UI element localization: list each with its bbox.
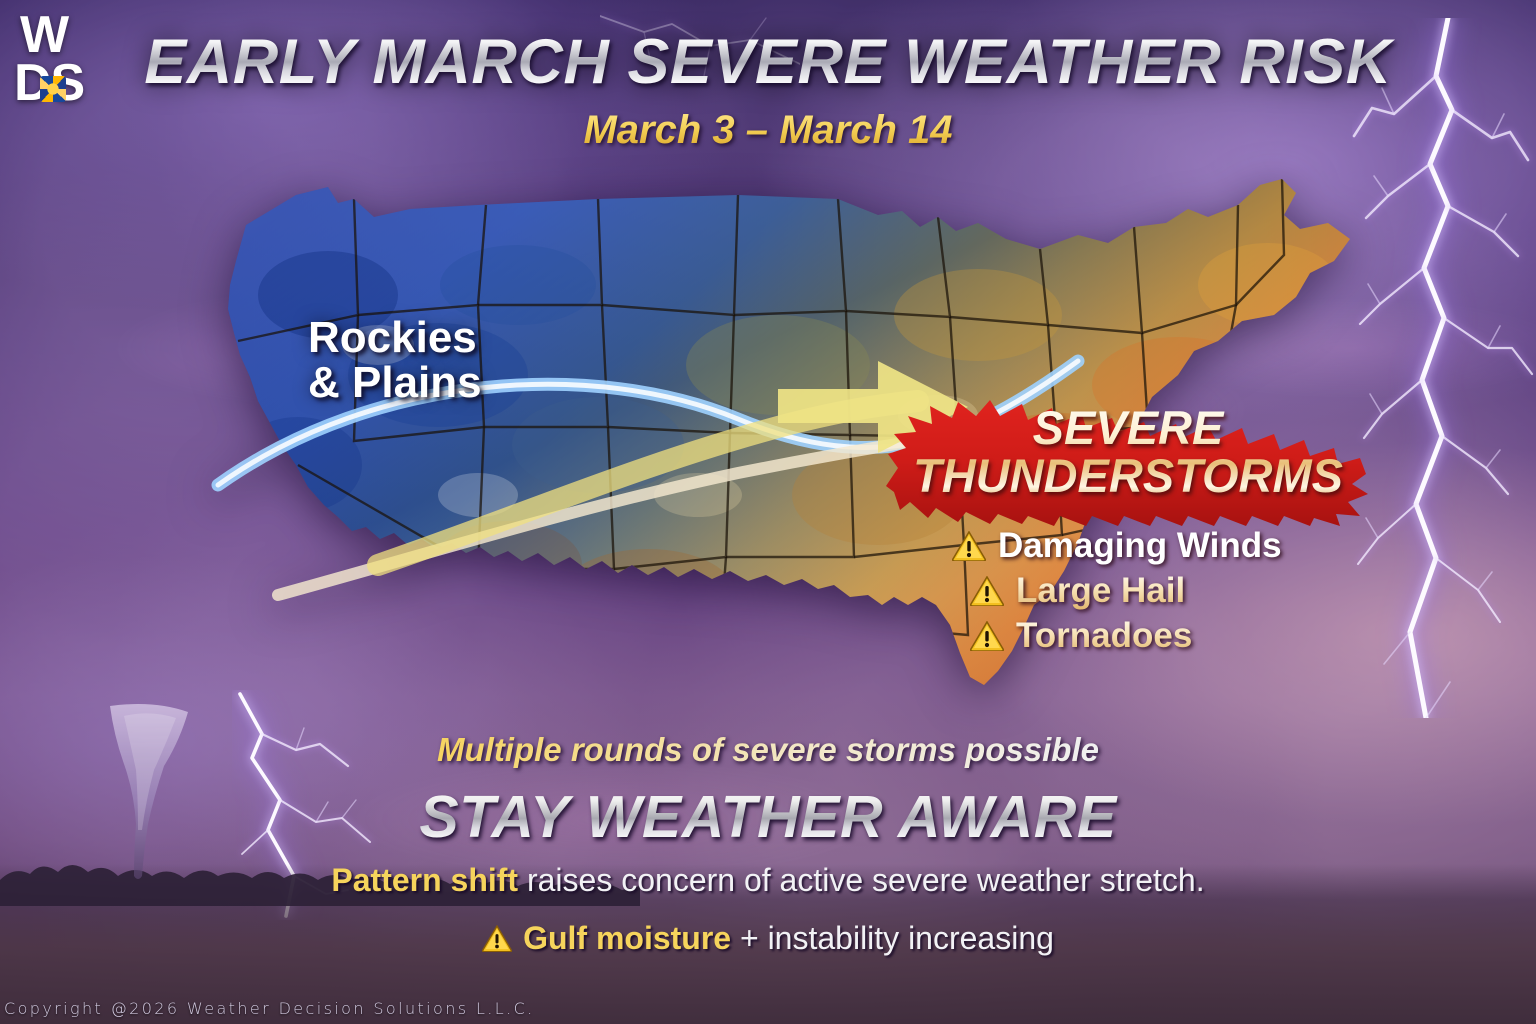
hazard-label: Tornadoes	[1016, 618, 1192, 655]
warning-triangle-icon	[970, 576, 1004, 606]
pattern-shift-emphasis: Pattern shift	[331, 862, 518, 898]
hazard-list: Damaging Winds Large Hail Tornadoes	[952, 528, 1372, 662]
map-region-label: Rockies & Plains	[308, 316, 482, 406]
pattern-shift-rest: raises concern of active severe weather …	[518, 862, 1205, 898]
multiple-rounds-message: Multiple rounds of severe storms possibl…	[0, 731, 1536, 769]
map-region-label-line1: Rockies	[308, 316, 482, 361]
hazard-item-large-hail: Large Hail	[970, 573, 1372, 610]
warning-triangle-icon	[970, 621, 1004, 651]
map-region-label-line2: & Plains	[308, 361, 482, 406]
date-range-subtitle: March 3 – March 14	[0, 108, 1536, 153]
gulf-moisture-emphasis: Gulf moisture	[523, 920, 731, 956]
hazard-label: Large Hail	[1016, 573, 1185, 610]
page-title: EARLY MARCH SEVERE WEATHER RISK	[0, 26, 1536, 98]
severe-headline: SEVERE THUNDERSTORMS	[880, 404, 1376, 500]
gulf-moisture-message: Gulf moisture + instability increasing	[0, 920, 1536, 957]
pattern-shift-message: Pattern shift raises concern of active s…	[0, 862, 1536, 899]
copyright-notice: Copyright @2026 Weather Decision Solutio…	[4, 999, 535, 1018]
warning-triangle-icon	[482, 925, 512, 952]
hazard-item-damaging-winds: Damaging Winds	[952, 528, 1372, 565]
gulf-moisture-rest: + instability increasing	[731, 920, 1054, 956]
warning-triangle-icon	[952, 531, 986, 561]
severe-headline-line1: SEVERE	[880, 404, 1376, 452]
hazard-item-tornadoes: Tornadoes	[970, 618, 1372, 655]
severe-headline-line2: THUNDERSTORMS	[880, 452, 1376, 500]
hazard-label: Damaging Winds	[998, 528, 1282, 565]
weather-graphic: W DS EARLY MARCH SEVERE WEATHER RISK Mar…	[0, 0, 1536, 1024]
stay-weather-aware-headline: STAY WEATHER AWARE	[0, 783, 1536, 851]
